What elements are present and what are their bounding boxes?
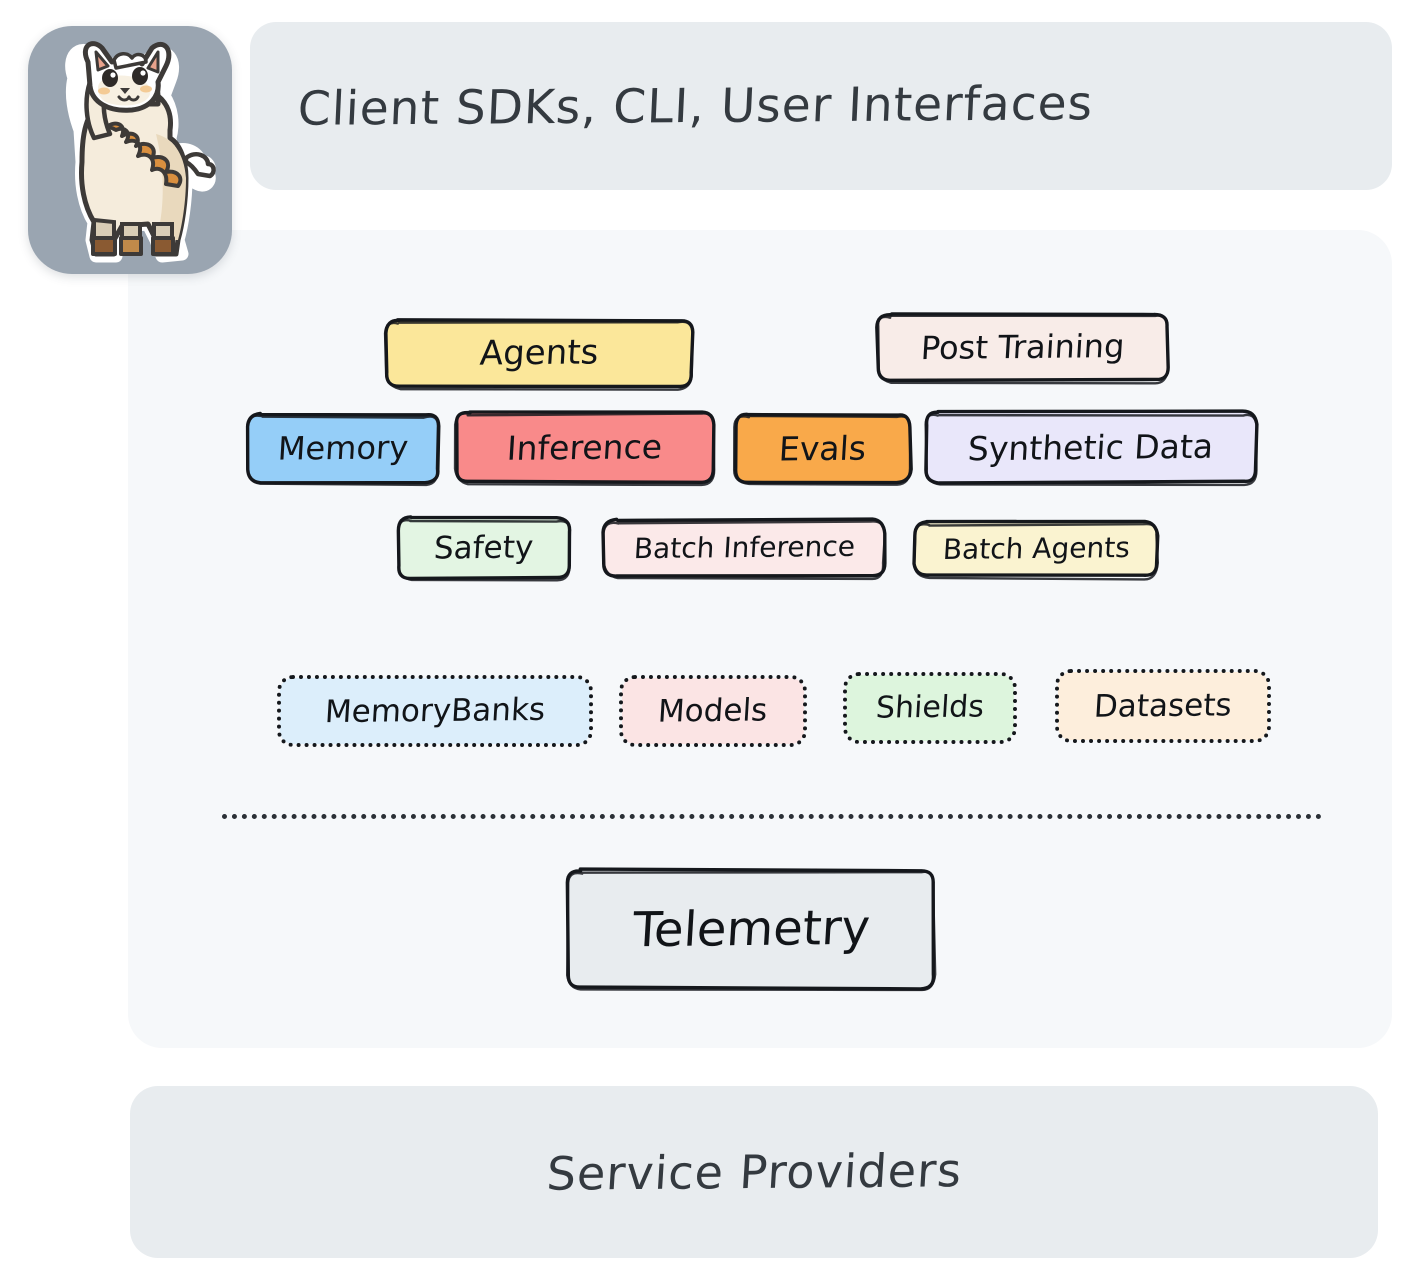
service-providers-label: Service Providers: [545, 1143, 964, 1201]
api-node-safety[interactable]: Safety: [398, 518, 570, 578]
api-node-batch-inference[interactable]: Batch Inference: [604, 520, 884, 576]
telemetry-node[interactable]: Telemetry: [568, 870, 934, 988]
resource-node-datasets-label: Datasets: [1093, 690, 1232, 722]
service-providers-bar: Service Providers: [130, 1086, 1378, 1258]
api-node-memory[interactable]: Memory: [248, 414, 438, 482]
resource-node-datasets[interactable]: Datasets: [1058, 672, 1268, 740]
api-node-inference-label: Inference: [506, 430, 663, 465]
api-node-synthetic-data-label: Synthetic Data: [967, 429, 1214, 465]
resource-node-shields-label: Shields: [875, 692, 985, 723]
llama-logo-icon: [36, 34, 224, 266]
api-node-agents[interactable]: Agents: [386, 320, 692, 386]
api-node-safety-label: Safety: [433, 532, 534, 564]
resource-node-memorybanks-label: MemoryBanks: [324, 694, 546, 727]
api-node-synthetic-data[interactable]: Synthetic Data: [926, 412, 1256, 482]
api-node-post-training-label: Post Training: [920, 330, 1125, 364]
resource-node-shields[interactable]: Shields: [846, 675, 1014, 741]
api-node-evals-label: Evals: [778, 431, 867, 465]
page-title: Client SDKs, CLI, User Interfaces: [297, 76, 1095, 137]
api-resource-divider: [222, 814, 1322, 819]
architecture-diagram: Client SDKs, CLI, User Interfaces Agents…: [0, 0, 1410, 1268]
api-node-memory-label: Memory: [277, 431, 409, 464]
api-node-evals[interactable]: Evals: [735, 414, 910, 482]
api-node-agents-label: Agents: [479, 335, 599, 370]
resource-node-models-label: Models: [657, 695, 768, 727]
api-node-inference[interactable]: Inference: [456, 412, 714, 482]
api-node-post-training[interactable]: Post Training: [878, 314, 1168, 380]
api-node-batch-agents-label: Batch Agents: [942, 534, 1131, 564]
telemetry-node-label: Telemetry: [631, 904, 871, 954]
api-node-batch-inference-label: Batch Inference: [633, 533, 856, 563]
api-node-batch-agents[interactable]: Batch Agents: [915, 522, 1157, 576]
llama-logo-badge: [28, 26, 232, 274]
client-layer-bar: Client SDKs, CLI, User Interfaces: [250, 22, 1392, 190]
resource-node-memorybanks[interactable]: MemoryBanks: [280, 678, 590, 744]
resource-node-models[interactable]: Models: [622, 678, 804, 744]
